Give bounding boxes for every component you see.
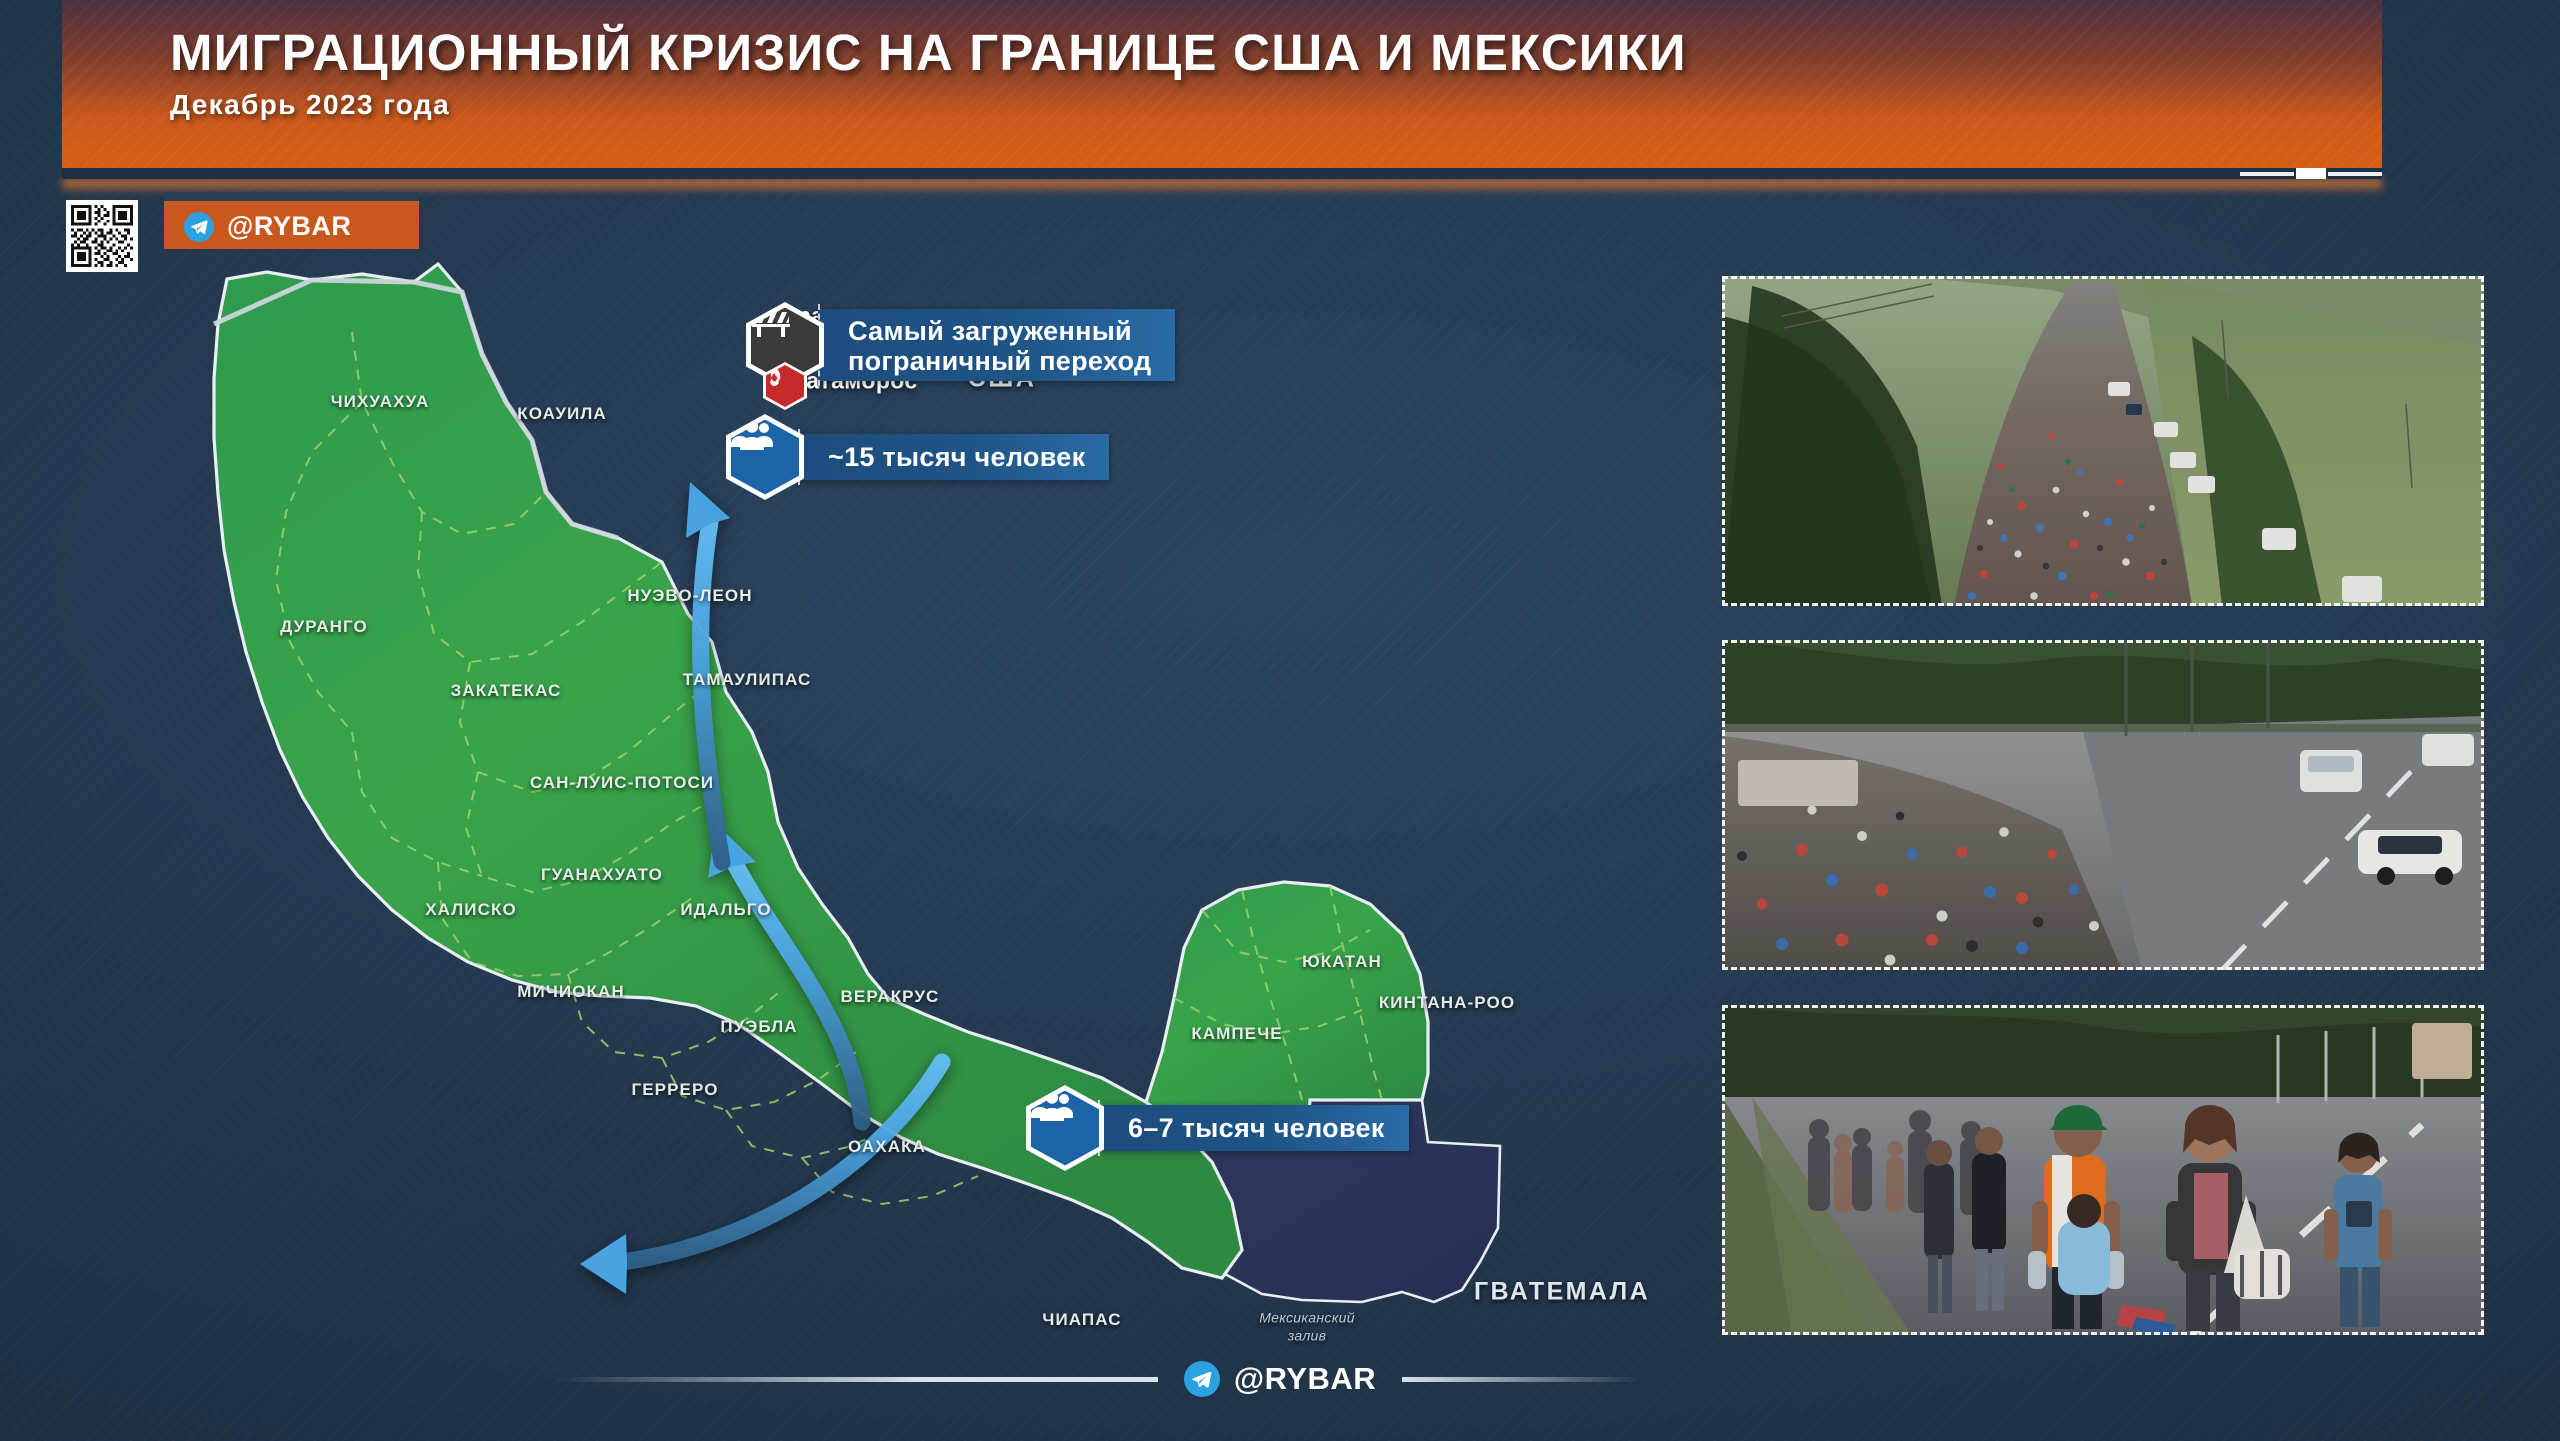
photo-caravan-aerial-image	[1722, 276, 2484, 606]
migrants-chiapas-hex[interactable]	[1026, 1085, 1104, 1171]
footer-rule-right	[1402, 1377, 2002, 1382]
photo-caravan-highway-image	[1722, 640, 2484, 970]
map-panel[interactable]: ЧИХУАХУАКОАУИЛАДУРАНГОНУЭВО-ЛЕОНЗАКАТЕКА…	[62, 262, 1722, 1312]
tick-bar-right	[2328, 172, 2382, 176]
page-subtitle: Декабрь 2023 года	[170, 89, 1687, 121]
migrants-chiapas-label: 6–7 тысяч человек	[1128, 1113, 1385, 1144]
migrants-matamoros-label: ~15 тысяч человек	[828, 442, 1085, 473]
tick-knob	[2296, 168, 2326, 179]
footer-handle: @RYBAR	[1234, 1361, 1376, 1397]
border-crossing-label-line1: Самый загруженный	[848, 316, 1132, 346]
telegram-paper-plane-icon	[1184, 1361, 1220, 1397]
brand-bar: @RYBAR	[164, 192, 419, 249]
telegram-paper-plane-icon	[184, 212, 214, 242]
footer-rule-left	[558, 1377, 1158, 1382]
migrants-matamoros-label-chip: ~15 тысяч человек	[798, 434, 1109, 480]
marker-migrants-matamoros[interactable]: ~15 тысяч человек	[726, 414, 1109, 500]
infographic-canvas: МИГРАЦИОННЫЙ КРИЗИС НА ГРАНИЦЕ США И МЕК…	[0, 0, 2560, 1441]
marker-migrants-chiapas[interactable]: 6–7 тысяч человек	[1026, 1085, 1409, 1171]
migrants-chiapas-label-chip: 6–7 тысяч человек	[1098, 1105, 1409, 1151]
header-bottom-rule	[62, 168, 2382, 179]
map-state-label: ЧИАПАС	[1042, 1310, 1121, 1330]
photo-caravan-aerial[interactable]	[1722, 276, 2484, 606]
header-tick-marker	[2240, 168, 2382, 179]
header-banner: МИГРАЦИОННЫЙ КРИЗИС НА ГРАНИЦЕ США И МЕК…	[62, 0, 2382, 168]
brand-handle: @RYBAR	[227, 211, 351, 242]
border-crossing-hex[interactable]	[746, 302, 824, 388]
border-crossing-label-line2: пограничный переход	[848, 346, 1151, 376]
page-title: МИГРАЦИОННЫЙ КРИЗИС НА ГРАНИЦЕ США И МЕК…	[170, 26, 1687, 80]
photo-migrants-walking-image	[1722, 1005, 2484, 1335]
photo-caravan-highway[interactable]	[1722, 640, 2484, 970]
marker-border-crossing[interactable]: Самый загруженный пограничный переход	[746, 302, 1175, 388]
brand-bar-inner: @RYBAR	[164, 204, 419, 249]
border-crossing-label-chip: Самый загруженный пограничный переход	[818, 309, 1175, 381]
photo-migrants-walking[interactable]	[1722, 1005, 2484, 1335]
header-text-block: МИГРАЦИОННЫЙ КРИЗИС НА ГРАНИЦЕ США И МЕК…	[170, 26, 1687, 121]
header-glow	[62, 179, 2382, 193]
map-sea-label: Мексиканскийзалив	[1259, 1310, 1355, 1345]
tick-bar-left	[2240, 172, 2294, 176]
qr-code-icon	[66, 200, 138, 272]
footer-brand: @RYBAR	[0, 1352, 2560, 1406]
migrants-matamoros-hex[interactable]	[726, 414, 804, 500]
flame-hex	[763, 362, 807, 410]
